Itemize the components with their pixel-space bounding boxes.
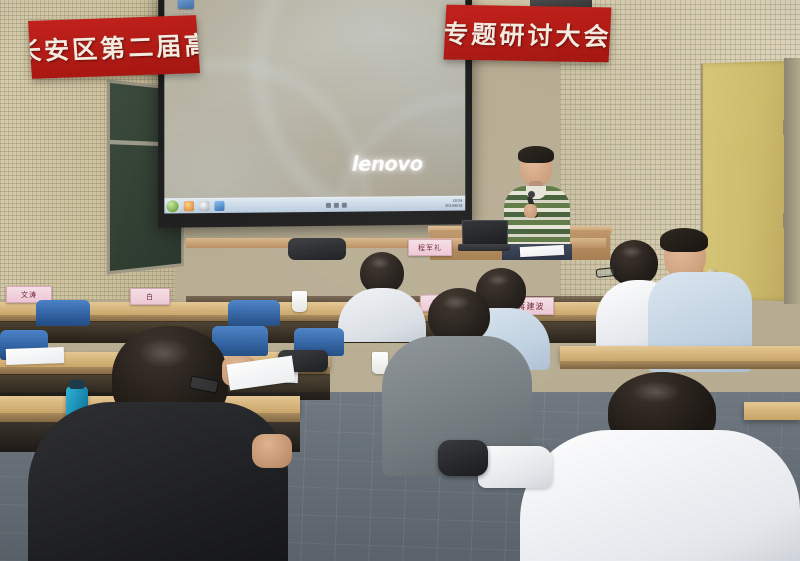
black-shoulder-bag [438, 440, 488, 476]
system-tray[interactable] [326, 202, 347, 207]
hair [660, 228, 708, 252]
desk-foreground-right [744, 402, 800, 420]
audience-white-shirt-front [520, 372, 800, 561]
name-plate-2: 白 [130, 288, 170, 305]
banner-left: 长安区第二届高 [28, 15, 200, 79]
desk-row-2-right [560, 346, 800, 362]
presenter-hand [524, 204, 537, 218]
projection-screen-frame: 计算机 回收站 lenovo 10:24 2013/6/15 [158, 0, 472, 228]
paper-cup-front [292, 291, 307, 312]
laptop-keyboard [458, 244, 510, 251]
foreground-hand-2 [252, 434, 292, 468]
lenovo-logo: lenovo [352, 152, 423, 176]
torso [28, 402, 288, 561]
taskbar[interactable]: 10:24 2013/6/15 [164, 196, 465, 214]
photo-scene: 计算机 回收站 lenovo 10:24 2013/6/15 [0, 0, 800, 561]
computer-icon[interactable]: 计算机 [168, 0, 203, 15]
projection-screen: 计算机 回收站 lenovo 10:24 2013/6/15 [164, 0, 465, 214]
white-plastic-bag [478, 446, 552, 488]
presenter-hair [518, 146, 554, 163]
banner-right: 专题研讨大会 [444, 5, 612, 63]
taskbar-clock[interactable]: 10:24 2013/6/15 [445, 199, 462, 209]
browser-icon[interactable] [184, 201, 194, 211]
torso [520, 430, 800, 561]
start-orb-icon[interactable] [166, 200, 178, 212]
media-icon[interactable] [214, 201, 224, 211]
chair-2 [228, 300, 280, 326]
qq-icon[interactable] [199, 201, 209, 211]
presenter [498, 148, 576, 258]
door-frame [784, 58, 800, 304]
chair-1 [36, 300, 90, 326]
